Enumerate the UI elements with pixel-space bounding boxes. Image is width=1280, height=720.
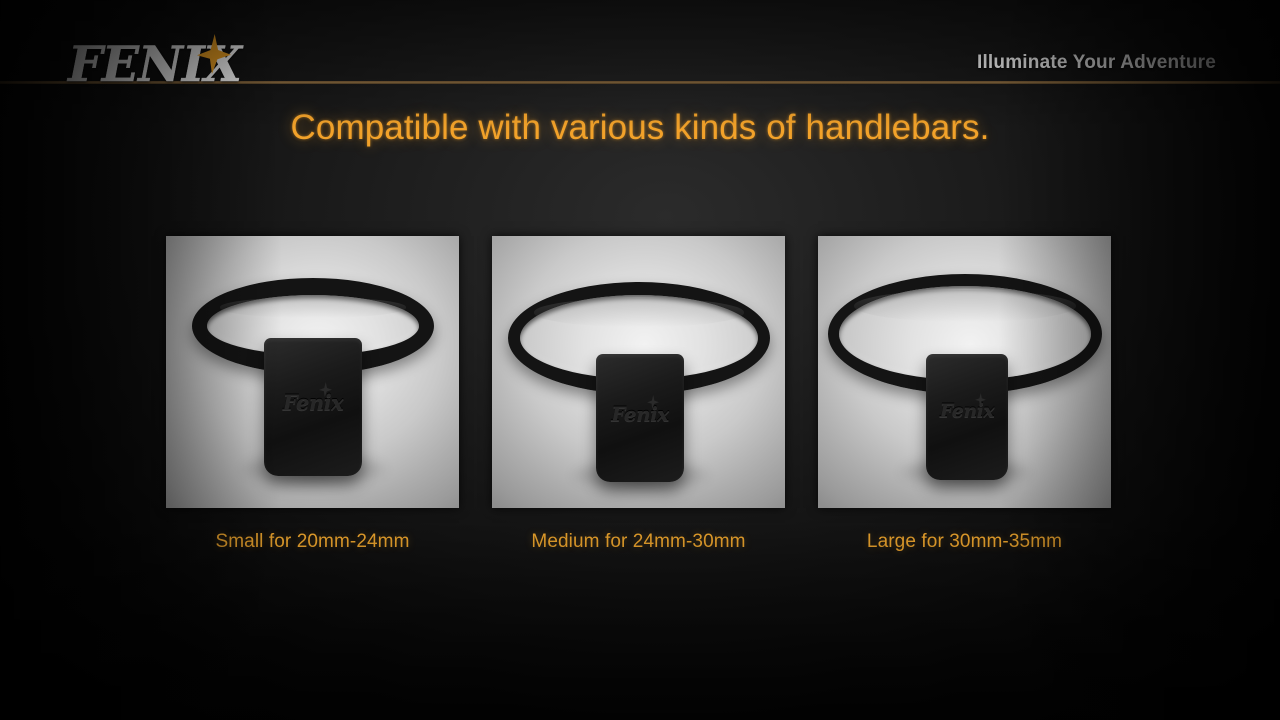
caption-large: Large for 30mm-35mm <box>818 531 1111 553</box>
embossed-star-icon <box>647 395 659 409</box>
mount-tab: Fenix <box>264 338 362 476</box>
caption-medium: Medium for 24mm-30mm <box>492 531 785 553</box>
handlebar-mount-small: Fenix <box>166 236 459 508</box>
product-captions: Small for 20mm-24mm Medium for 24mm-30mm… <box>0 531 1280 561</box>
handlebar-mount-large: Fenix <box>818 236 1111 508</box>
embossed-brand-label: Fenix <box>926 400 1008 422</box>
product-image-large: Fenix <box>818 236 1111 508</box>
mount-tab: Fenix <box>926 354 1008 480</box>
handlebar-mount-medium: Fenix <box>492 236 785 508</box>
embossed-brand-label: Fenix <box>264 390 362 415</box>
product-image-medium: Fenix <box>492 236 785 508</box>
caption-small: Small for 20mm-24mm <box>166 531 459 553</box>
page-title: Compatible with various kinds of handleb… <box>0 108 1280 148</box>
product-gallery: Fenix Fenix Fenix <box>0 236 1280 512</box>
slide-root: FENIX Illuminate Your Adventure Compatib… <box>0 0 1280 720</box>
mount-tab: Fenix <box>596 354 684 482</box>
fenix-logo: FENIX <box>68 36 328 94</box>
tagline: Illuminate Your Adventure <box>977 52 1216 74</box>
embossed-star-icon <box>319 382 332 397</box>
embossed-brand-label: Fenix <box>596 402 684 426</box>
product-image-small: Fenix <box>166 236 459 508</box>
header: FENIX Illuminate Your Adventure <box>0 0 1280 100</box>
embossed-star-icon <box>975 393 986 406</box>
